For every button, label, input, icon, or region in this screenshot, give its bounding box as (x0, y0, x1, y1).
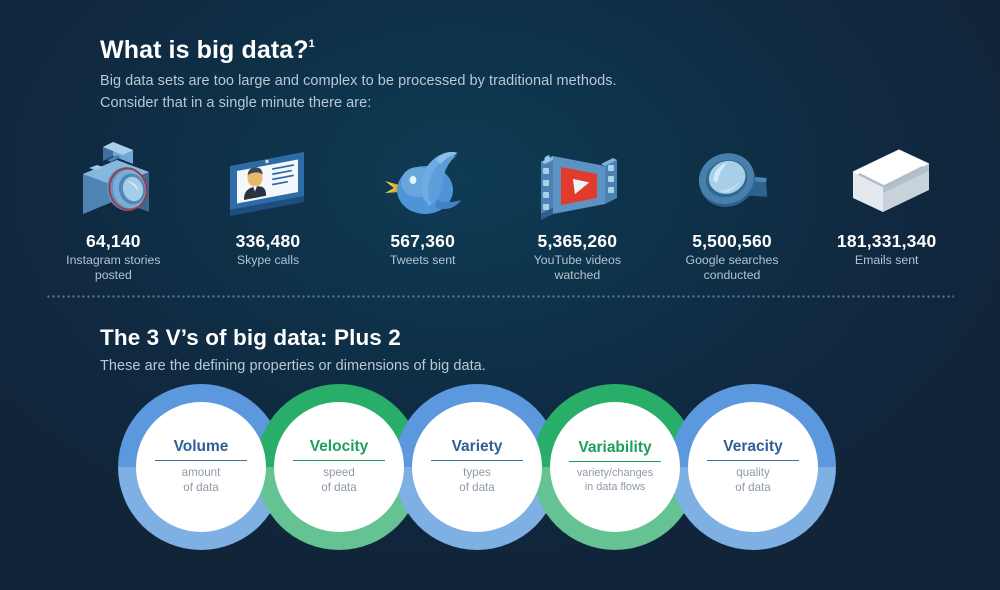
stat-label-line-1: Google searches (686, 253, 779, 268)
venn-label-title: Veracity (723, 438, 782, 459)
stat-label-line-1: Skype calls (237, 253, 299, 268)
stat-label-line-1: Emails sent (855, 253, 919, 268)
magnifying-glass-icon (673, 132, 791, 224)
section-subtitle-what-is-big-data: Big data sets are too large and complex … (100, 70, 860, 115)
venn-label-veracity: Veracity quality of data (688, 402, 818, 532)
venn-label-desc: quality of data (735, 466, 770, 496)
video-call-icon (209, 132, 327, 224)
venn-label-desc: amount of data (182, 466, 221, 496)
statistics-row: 64,140 Instagram stories posted (36, 132, 964, 282)
venn-desc-line-2: of data (459, 481, 494, 496)
venn-desc-line-1: types (459, 466, 494, 481)
venn-label-rule (431, 460, 523, 462)
venn-desc-line-1: variety/changes (577, 467, 653, 481)
footnote-marker: 1 (309, 38, 315, 50)
venn-label-rule (293, 460, 385, 462)
section-title-what-is-big-data: What is big data?1 (100, 36, 860, 65)
subtitle-line-1: Big data sets are too large and complex … (100, 70, 860, 92)
venn-desc-line-1: speed (321, 466, 356, 481)
film-strip-play-icon (518, 132, 636, 224)
stat-value: 5,500,560 (692, 232, 772, 251)
stat-item: 64,140 Instagram stories posted (36, 132, 191, 283)
venn-label-title: Variety (452, 438, 503, 459)
stat-item: 5,365,260 YouTube videos watched (500, 132, 655, 283)
stat-value: 336,480 (236, 232, 301, 251)
stat-label: Google searches conducted (686, 253, 779, 283)
venn-label-title: Volume (174, 438, 229, 459)
section-subtitle-three-vs: These are the defining properties or dim… (100, 355, 860, 377)
infographic-canvas: What is big data?1 Big data sets are too… (0, 0, 1000, 590)
stat-label-line-1: Instagram stories (66, 253, 160, 268)
stat-value: 567,360 (390, 232, 455, 251)
venn-label-rule (155, 460, 247, 462)
venn-label-title: Variability (578, 439, 651, 460)
section-divider (46, 295, 954, 298)
venn-desc-line-1: quality (735, 466, 770, 481)
venn-label-desc: types of data (459, 466, 494, 496)
envelope-icon (828, 132, 946, 224)
venn-desc-line-2: of data (735, 481, 770, 496)
bird-icon (364, 132, 482, 224)
venn-diagram-three-vs: Volume amount of data Velocity speed of … (0, 384, 1000, 564)
venn-label-title: Velocity (310, 438, 369, 459)
stat-label-line-1: YouTube videos (534, 253, 621, 268)
venn-desc-line-2: of data (321, 481, 356, 496)
venn-label-volume: Volume amount of data (136, 402, 266, 532)
stat-item: 181,331,340 Emails sent (809, 132, 964, 268)
venn-label-desc: variety/changes in data flows (577, 467, 653, 495)
venn-label-desc: speed of data (321, 466, 356, 496)
section-what-is-big-data-header: What is big data?1 Big data sets are too… (100, 36, 860, 115)
stat-label-line-2: watched (534, 268, 621, 283)
stat-label-line-2: conducted (686, 268, 779, 283)
section-title-text: What is big data? (100, 36, 309, 64)
stat-label-line-1: Tweets sent (390, 253, 456, 268)
venn-label-variability: Variability variety/changes in data flow… (550, 402, 680, 532)
stat-item: 336,480 Skype calls (191, 132, 346, 268)
stat-label: Skype calls (237, 253, 299, 268)
venn-label-variety: Variety types of data (412, 402, 542, 532)
section-three-vs-header: The 3 V’s of big data: Plus 2 These are … (100, 325, 860, 377)
venn-desc-line-2: of data (182, 481, 221, 496)
venn-label-rule (707, 460, 799, 462)
stat-item: 567,360 Tweets sent (345, 132, 500, 268)
stat-value: 181,331,340 (837, 232, 937, 251)
stat-label: Instagram stories posted (66, 253, 160, 283)
stat-value: 64,140 (86, 232, 141, 251)
section-title-three-vs: The 3 V’s of big data: Plus 2 (100, 325, 860, 351)
stat-label: Tweets sent (390, 253, 456, 268)
stat-label-line-2: posted (66, 268, 160, 283)
venn-label-rule (569, 461, 661, 463)
stat-item: 5,500,560 Google searches conducted (655, 132, 810, 283)
camera-icon (54, 132, 172, 224)
venn-desc-line-2: in data flows (577, 481, 653, 495)
stat-value: 5,365,260 (538, 232, 618, 251)
venn-label-velocity: Velocity speed of data (274, 402, 404, 532)
venn-desc-line-1: amount (182, 466, 221, 481)
subtitle-line-2: Consider that in a single minute there a… (100, 92, 860, 114)
stat-label: Emails sent (855, 253, 919, 268)
stat-label: YouTube videos watched (534, 253, 621, 283)
